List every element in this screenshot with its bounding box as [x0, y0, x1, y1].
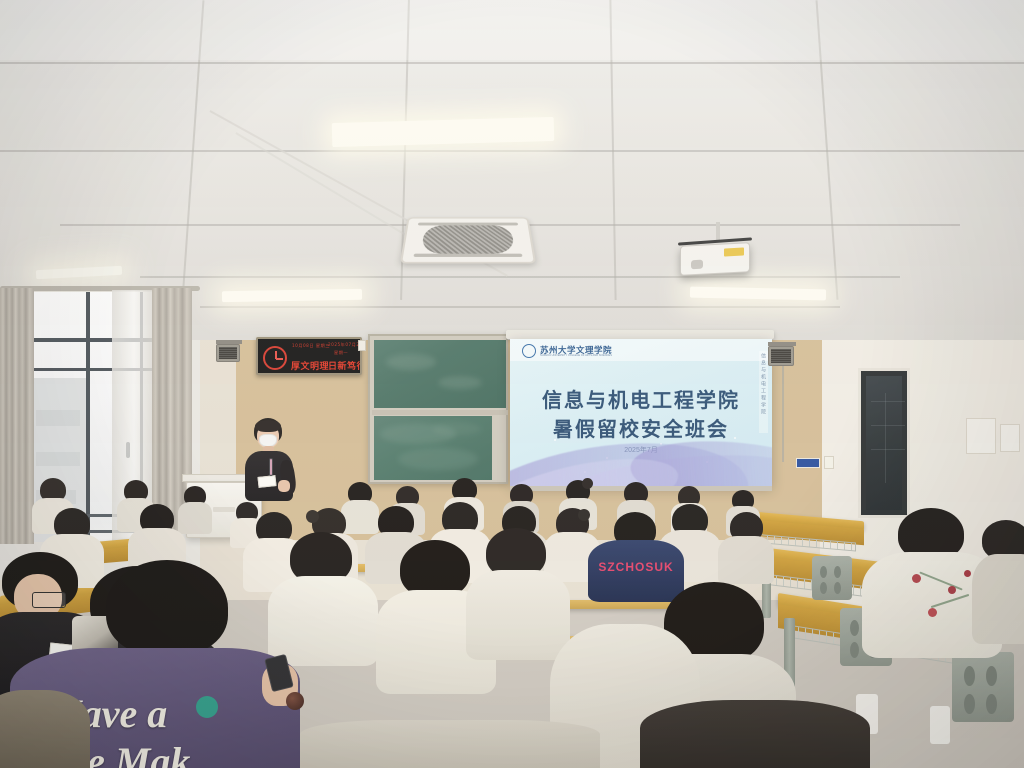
hair-bun: [306, 510, 319, 523]
floral-embroidery-2: [948, 586, 956, 594]
wall-switch-plate[interactable]: [824, 456, 834, 469]
presenter-hair-front: [255, 420, 281, 432]
presentation-slide: 苏州大学文理学院 SUZHOU UNIVERSITY COLLEGE OF AR…: [510, 339, 772, 487]
wall-sign-blue: [796, 458, 820, 468]
student-right-edge: [980, 520, 1024, 640]
projection-screen-case: [506, 330, 774, 339]
led-line-bottom-left: 厚文明理: [291, 359, 329, 372]
wall-notice-sheet: [966, 418, 996, 454]
led-clock-face: [263, 346, 287, 370]
student-navy-shirt-text: SZCHOSUK: [588, 560, 684, 574]
floral-embroidery-1: [912, 574, 921, 583]
student-purple-hair: [106, 560, 228, 656]
presenter-hand: [278, 480, 290, 492]
floral-embroidery-3: [928, 608, 937, 617]
student-left-edge-front: [0, 690, 90, 768]
presenter-microphone: [269, 458, 273, 476]
student-floral-sock-2: [930, 706, 950, 744]
student-front-center-1: [268, 532, 378, 662]
student-bottom-center: [300, 720, 600, 768]
eyeglasses-icon: [32, 592, 66, 608]
presenter: [238, 418, 300, 500]
led-line-top-right: 2025年07月21日: [328, 342, 362, 348]
ceiling-projector: [680, 242, 750, 276]
classroom-door[interactable]: [858, 368, 910, 518]
led-line-top-right2: 星期一: [334, 350, 348, 356]
wall-speaker-right: [768, 346, 794, 366]
wall-outlet[interactable]: [358, 340, 366, 351]
projector-label: [724, 247, 744, 256]
beaded-bracelet: [286, 692, 304, 710]
chalkboard-panel-upper: [374, 340, 506, 408]
slide-title-line2: 暑假留校安全班会: [510, 413, 772, 442]
led-line-bottom-right: 日新笃行: [328, 359, 362, 372]
chalkboard-panel-lower: [374, 416, 492, 480]
ceiling-cassette-air-conditioner: [400, 217, 536, 263]
slide-side-text: 信息与机电工程学院: [759, 351, 768, 433]
led-line-top-left: 10月08日 星期三: [292, 343, 330, 349]
chair-right-3[interactable]: [952, 652, 1014, 722]
chair-right-1[interactable]: [812, 556, 852, 600]
university-logo-icon: [522, 344, 536, 358]
slide-title-line1: 信息与机电工程学院: [510, 384, 772, 413]
classroom-photo: 10月08日 星期三 2025年07月21日 星期一 厚文明理 日新笃行 苏州大…: [0, 0, 1024, 768]
student-bottom-right: [640, 700, 870, 768]
speaker-cable: [782, 366, 784, 462]
projector-lens: [691, 260, 703, 270]
presenter-notes: [257, 475, 276, 488]
wall-notice-sheet-2: [1000, 424, 1020, 452]
slide-institution-subtitle: SUZHOU UNIVERSITY COLLEGE OF ARTS AND SC…: [540, 354, 612, 357]
projection-screen: 苏州大学文理学院 SUZHOU UNIVERSITY COLLEGE OF AR…: [510, 339, 772, 487]
wall-speaker-left: [216, 344, 240, 362]
green-chalkboard: [368, 334, 508, 484]
window-curtain-left[interactable]: [0, 288, 34, 544]
led-scrolling-sign: 10月08日 星期三 2025年07月21日 星期一 厚文明理 日新笃行: [256, 337, 362, 375]
floral-embroidery-4: [964, 570, 971, 577]
